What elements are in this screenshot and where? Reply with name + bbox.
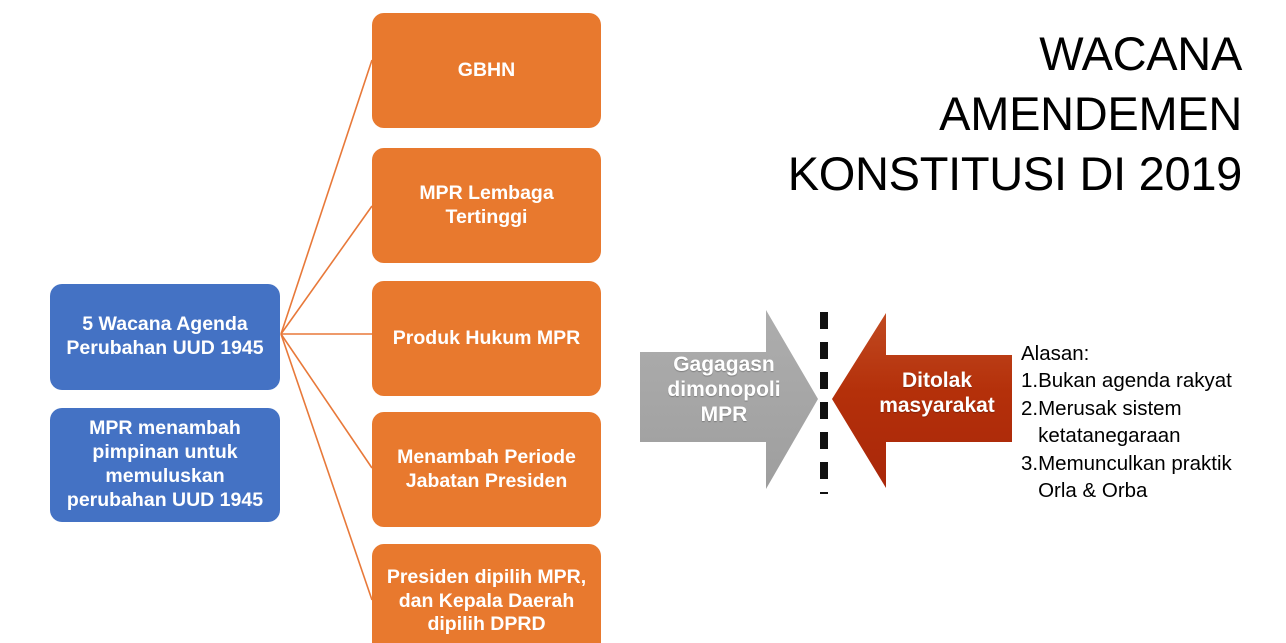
alasan-item-2-cont: ketatanegaraan xyxy=(1021,422,1273,449)
red-arrow-label: Ditolak masyarakat xyxy=(862,368,1012,418)
arrow-group xyxy=(0,0,1286,643)
alasan-item-3: 3.Memunculkan praktik xyxy=(1021,450,1273,477)
alasan-item-2: 2.Merusak sistem xyxy=(1021,395,1273,422)
alasan-heading: Alasan: xyxy=(1021,340,1273,367)
alasan-list: Alasan: 1.Bukan agenda rakyat 2.Merusak … xyxy=(1021,340,1273,505)
alasan-item-1: 1.Bukan agenda rakyat xyxy=(1021,367,1273,394)
alasan-item-3-cont: Orla & Orba xyxy=(1021,477,1273,504)
slide-canvas: WACANA AMENDEMEN KONSTITUSI DI 2019 5 Wa… xyxy=(0,0,1286,643)
gray-arrow-label: Gagagasn dimonopoli MPR xyxy=(644,352,804,428)
